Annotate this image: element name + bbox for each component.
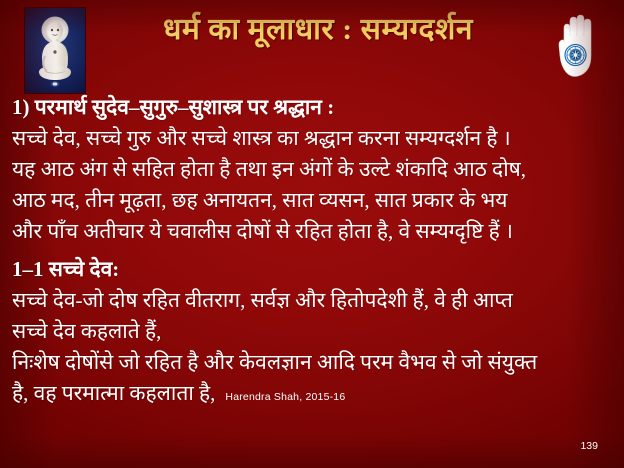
paragraph-1: सच्चे देव, सच्चे गुरु और सच्चे शास्त्र क…: [12, 123, 614, 247]
footer-credit: Harendra Shah, 2015-16: [225, 391, 345, 403]
page-title: धर्म का मूलाधार : सम्यग्दर्शन: [96, 13, 540, 48]
paragraph-2-line: सच्चे देव कहलाते हैं,: [12, 316, 614, 347]
section-heading-2: 1–1 सच्चे देव:: [12, 256, 614, 284]
paragraph-2-last-line-row: है, वह परमात्मा कहलाता है, Harendra Shah…: [12, 378, 614, 409]
paragraph-2-line: है, वह परमात्मा कहलाता है,: [12, 378, 215, 409]
idol-figure-icon: [25, 8, 85, 93]
paragraph-2-line: सच्चे देव-जो दोष रहित वीतराग, सर्वज्ञ और…: [12, 285, 614, 316]
page-number: 139: [580, 440, 598, 452]
jain-tirthankara-idol: [24, 7, 86, 94]
paragraph-2-line: निःशेष दोषोंसे जो रहित है और केवलज्ञान आ…: [12, 347, 614, 378]
section-heading-1: 1) परमार्थ सुदेव–सुगुरु–सुशास्त्र पर श्र…: [12, 94, 614, 122]
ahimsa-hand-icon: [554, 8, 602, 84]
paragraph-1-line: सच्चे देव, सच्चे गुरु और सच्चे शास्त्र क…: [12, 123, 614, 154]
slide: धर्म का मूलाधार : सम्यग्दर्शन: [0, 0, 624, 468]
paragraph-2: सच्चे देव-जो दोष रहित वीतराग, सर्वज्ञ और…: [12, 285, 614, 409]
slide-body: 1) परमार्थ सुदेव–सुगुरु–सुशास्त्र पर श्र…: [0, 94, 624, 409]
paragraph-1-line: आठ मद, तीन मूढ़ता, छह अनायतन, सात व्यसन,…: [12, 185, 614, 216]
jain-ahimsa-hand-symbol: [554, 8, 602, 84]
paragraph-1-line: और पाँच अतीचार ये चवालीस दोषों से रहित ह…: [12, 216, 614, 247]
slide-header: धर्म का मूलाधार : सम्यग्दर्शन: [0, 0, 624, 92]
paragraph-1-line: यह आठ अंग से सहित होता है तथा इन अंगों क…: [12, 154, 614, 185]
